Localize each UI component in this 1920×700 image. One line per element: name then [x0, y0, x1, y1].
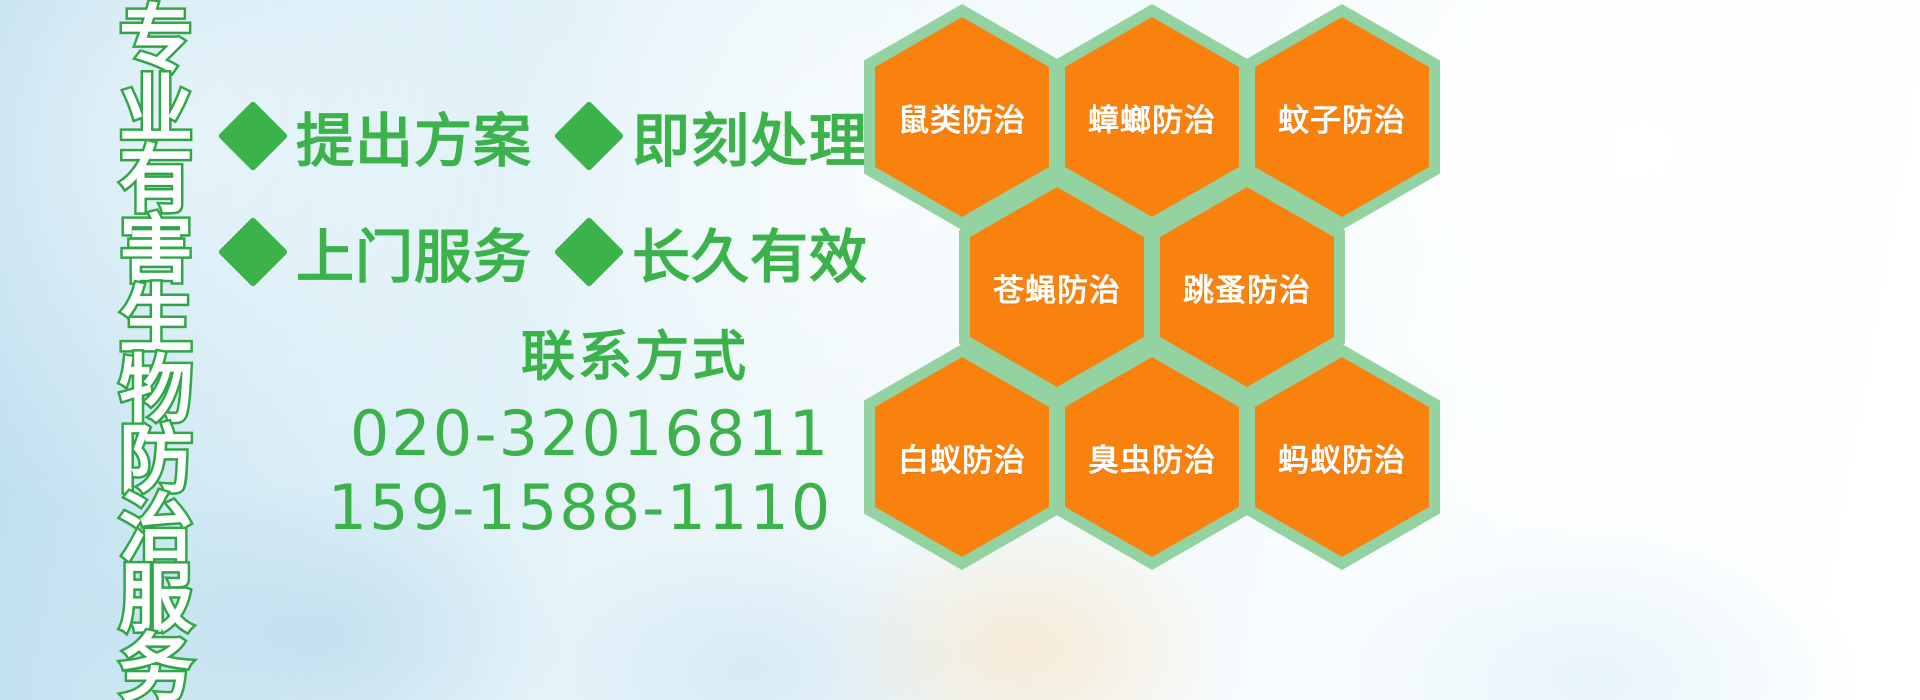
diamond-bullet-icon	[554, 217, 625, 288]
feature-item-propose-plan: 提出方案	[228, 94, 532, 178]
hex-label: 白蚁防治	[898, 435, 1026, 480]
hex-cell-ant-control[interactable]: 蚂蚁防治	[1244, 344, 1440, 570]
phone-landline[interactable]: 020-32016811	[320, 397, 860, 471]
hex-label: 鼠类防治	[898, 95, 1026, 140]
feature-list: 提出方案 即刻处理 上门服务 长久有效	[228, 78, 868, 310]
vertical-headline: 专 业 有 害 生 物 防 治 服 务	[104, 6, 208, 566]
feature-label: 上门服务	[296, 210, 532, 294]
headline-char: 治	[119, 495, 193, 565]
headline-char: 专	[119, 6, 193, 76]
phone-mobile[interactable]: 159-1588-1110	[300, 471, 860, 545]
feature-row: 提出方案 即刻处理	[228, 78, 868, 194]
hex-label: 蚂蚁防治	[1278, 435, 1406, 480]
hex-label: 跳蚤防治	[1183, 265, 1311, 310]
headline-char: 防	[119, 426, 193, 496]
contact-block: 联系方式 020-32016811 159-1588-1110	[240, 312, 860, 546]
hex-cell-bedbug-control[interactable]: 臭虫防治	[1054, 344, 1250, 570]
feature-item-long-lasting: 长久有效	[564, 210, 868, 294]
headline-char: 生	[119, 286, 193, 356]
headline-char: 有	[119, 146, 193, 216]
hex-label: 臭虫防治	[1088, 435, 1216, 480]
service-honeycomb: 鼠类防治 蟑螂防治 蚊子防治 苍蝇防治 跳蚤防治	[858, 0, 1478, 556]
diamond-bullet-icon	[554, 101, 625, 172]
hex-cell-termite-control[interactable]: 白蚁防治	[864, 344, 1060, 570]
diamond-bullet-icon	[218, 217, 289, 288]
hex-label: 苍蝇防治	[993, 265, 1121, 310]
headline-char: 物	[119, 356, 193, 426]
contact-title: 联系方式	[410, 312, 860, 391]
diamond-bullet-icon	[218, 101, 289, 172]
feature-item-onsite-service: 上门服务	[228, 210, 532, 294]
hex-label: 蚊子防治	[1278, 95, 1406, 140]
headline-char: 服	[119, 565, 193, 635]
feature-label: 提出方案	[296, 94, 532, 178]
feature-label: 即刻处理	[632, 94, 868, 178]
feature-item-immediate-action: 即刻处理	[564, 94, 868, 178]
headline-char: 务	[119, 635, 193, 700]
headline-char: 害	[119, 216, 193, 286]
headline-char: 业	[119, 76, 193, 146]
feature-row: 上门服务 长久有效	[228, 194, 868, 310]
banner-root: 专 业 有 害 生 物 防 治 服 务 提出方案 即刻处理 上门服务	[0, 0, 1920, 700]
hex-label: 蟑螂防治	[1088, 95, 1216, 140]
feature-label: 长久有效	[632, 210, 868, 294]
